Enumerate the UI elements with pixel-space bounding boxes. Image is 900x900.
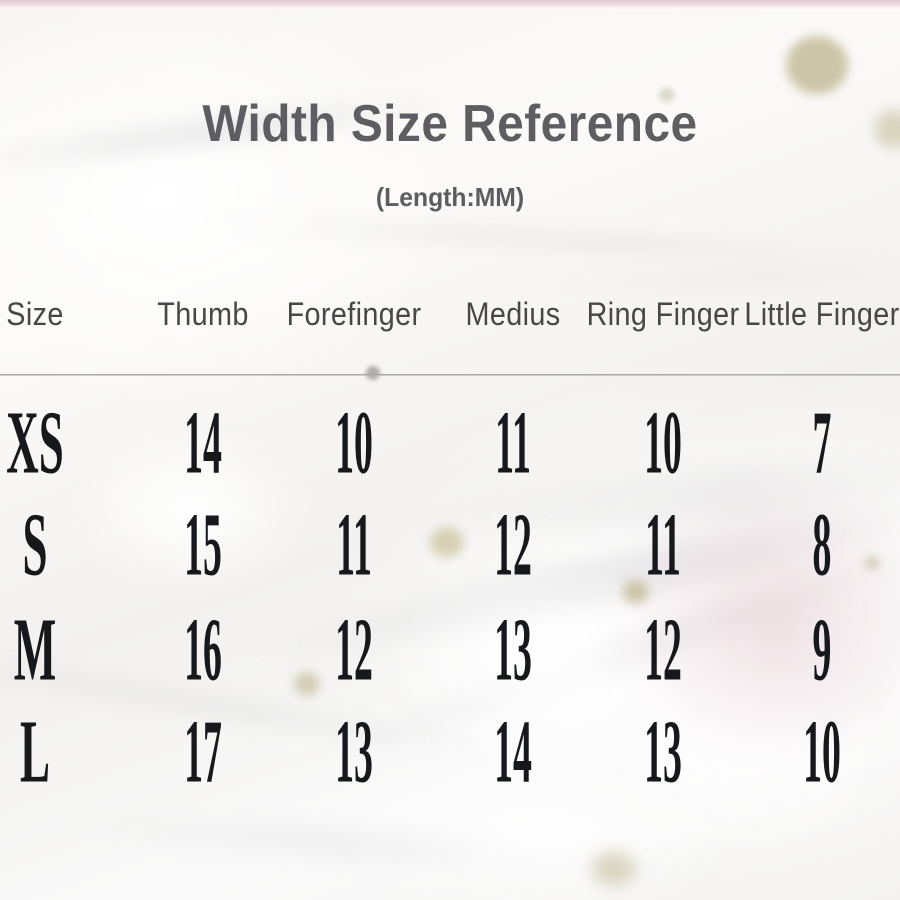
measurement-cell: 13 bbox=[335, 701, 373, 804]
measurement-cell: 17 bbox=[184, 701, 222, 804]
measurement-cell: 7 bbox=[813, 392, 832, 495]
size-label-cell: S bbox=[22, 494, 47, 597]
background-blur-spot bbox=[366, 366, 380, 380]
measurement-cell: 10 bbox=[803, 701, 841, 804]
measurement-cell: 9 bbox=[813, 599, 832, 702]
size-label-cell: L bbox=[20, 701, 50, 804]
measurement-cell: 10 bbox=[644, 392, 682, 495]
column-header-thumb: Thumb bbox=[157, 296, 248, 333]
column-header-forefinger: Forefinger bbox=[287, 296, 422, 333]
measurement-cell: 14 bbox=[494, 701, 532, 804]
background-blur-spot bbox=[592, 852, 636, 886]
table-header-row: SizeThumbForefingerMediusRing FingerLitt… bbox=[0, 296, 900, 358]
measurement-cell: 10 bbox=[335, 392, 373, 495]
measurement-cell: 14 bbox=[184, 392, 222, 495]
measurement-cell: 8 bbox=[813, 494, 832, 597]
column-header-ring-finger: Ring Finger bbox=[587, 296, 740, 333]
measurement-cell: 11 bbox=[645, 494, 681, 597]
column-header-size: Size bbox=[6, 296, 63, 333]
background-blur-spot bbox=[430, 527, 464, 557]
measurement-cell: 12 bbox=[494, 494, 532, 597]
background-blur-spot bbox=[786, 36, 848, 94]
page-title: Width Size Reference bbox=[36, 94, 864, 154]
measurement-cell: 12 bbox=[335, 599, 373, 702]
measurement-cell: 15 bbox=[184, 494, 222, 597]
column-header-medius: Medius bbox=[465, 296, 560, 333]
top-accent-band bbox=[0, 0, 900, 9]
background-blur-spot bbox=[294, 672, 320, 696]
measurement-cell: 11 bbox=[495, 392, 531, 495]
marble-highlight bbox=[330, 760, 750, 900]
size-label-cell: XS bbox=[6, 392, 64, 495]
measurement-cell: 13 bbox=[494, 599, 532, 702]
page-subtitle: (Length:MM) bbox=[23, 182, 878, 213]
size-table: SizeThumbForefingerMediusRing FingerLitt… bbox=[0, 296, 900, 358]
measurement-cell: 12 bbox=[644, 599, 682, 702]
size-label-cell: M bbox=[14, 599, 56, 702]
measurement-cell: 11 bbox=[336, 494, 372, 597]
header-divider bbox=[0, 374, 900, 376]
measurement-cell: 13 bbox=[644, 701, 682, 804]
measurement-cell: 16 bbox=[184, 599, 222, 702]
background-blur-spot bbox=[864, 556, 880, 570]
size-chart-page: Width Size Reference (Length:MM) SizeThu… bbox=[0, 0, 900, 900]
column-header-little-finger: Little Finger bbox=[744, 296, 899, 333]
